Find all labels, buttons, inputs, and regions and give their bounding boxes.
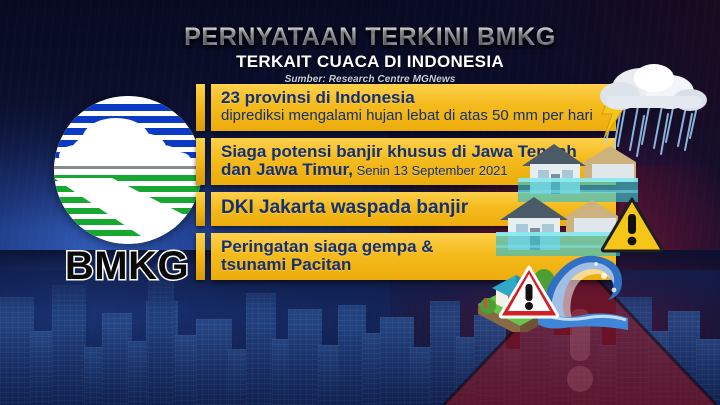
statement-1-detail: diprediksi mengalami hujan lebat di atas… — [221, 108, 604, 125]
statement-body: DKI Jakarta waspada banjir — [211, 192, 616, 226]
statement-2-headline-line2: dan Jawa Timur, Senin 13 September 2021 — [221, 161, 604, 179]
statement-2-headline-line1: Siaga potensi banjir khusus di Jawa Teng… — [221, 143, 604, 161]
bmkg-wordmark: BMKG — [46, 244, 208, 288]
statement-item-4: Peringatan siaga gempa & tsunami Pacitan — [196, 233, 616, 280]
infographic-canvas: BMKG PERNYATAAN TERKINI BMKG TERKAIT CUA… — [0, 0, 720, 405]
statement-2-date: Senin 13 September 2021 — [353, 163, 508, 178]
statement-accent-tab — [196, 233, 205, 280]
statement-item-1: 23 provinsi di Indonesia diprediksi meng… — [196, 84, 616, 131]
statement-body: Siaga potensi banjir khusus di Jawa Teng… — [211, 138, 616, 185]
statement-body: 23 provinsi di Indonesia diprediksi meng… — [211, 84, 616, 131]
statement-accent-tab — [196, 84, 205, 131]
header: PERNYATAAN TERKINI BMKG TERKAIT CUACA DI… — [140, 24, 600, 85]
statement-accent-tab — [196, 192, 205, 226]
statement-1-headline: 23 provinsi di Indonesia — [221, 89, 604, 107]
statement-2-region: dan Jawa Timur, — [221, 160, 353, 179]
statement-4-headline-line2: tsunami Pacitan — [221, 256, 604, 274]
bmkg-logo: BMKG — [46, 96, 208, 286]
statement-3-headline: DKI Jakarta waspada banjir — [221, 197, 604, 220]
statement-item-3: DKI Jakarta waspada banjir — [196, 192, 616, 226]
statement-accent-tab — [196, 138, 205, 185]
statement-4-headline-line1: Peringatan siaga gempa & — [221, 238, 604, 256]
statement-body: Peringatan siaga gempa & tsunami Pacitan — [211, 233, 616, 280]
page-subtitle: TERKAIT CUACA DI INDONESIA — [140, 52, 600, 72]
bmkg-logo-disc-icon — [54, 96, 202, 244]
statement-list: 23 provinsi di Indonesia diprediksi meng… — [196, 84, 616, 287]
page-title: PERNYATAAN TERKINI BMKG — [140, 24, 600, 51]
statement-item-2: Siaga potensi banjir khusus di Jawa Teng… — [196, 138, 616, 185]
